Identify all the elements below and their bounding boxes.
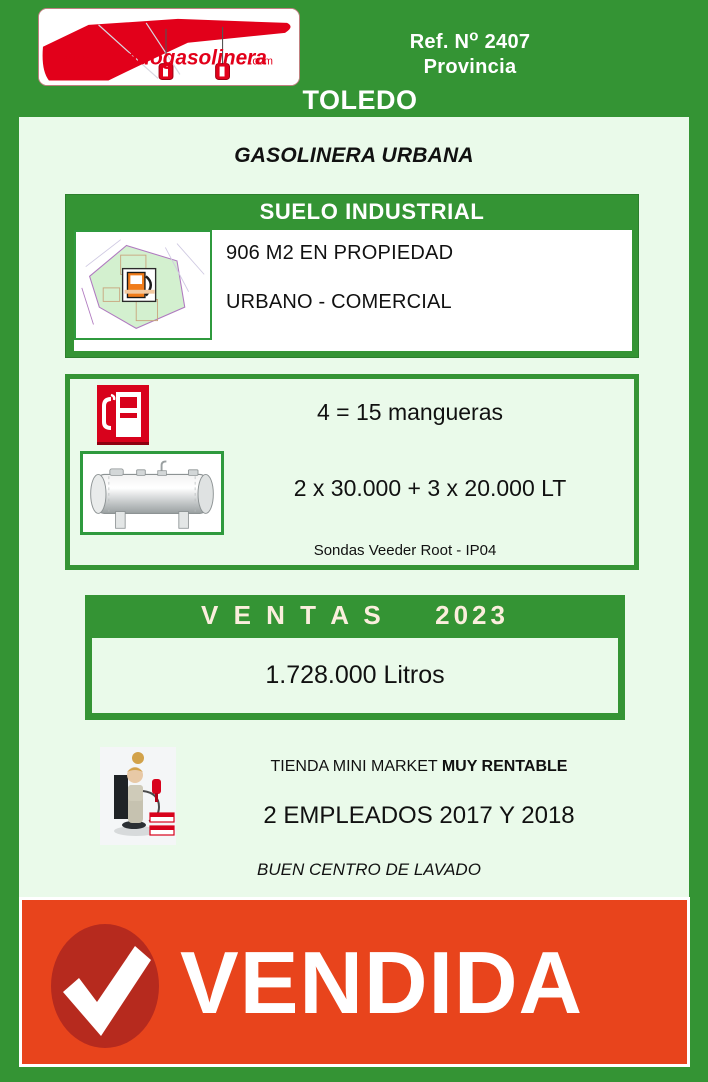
cadastral-map-icon (76, 232, 210, 338)
svg-text:.com: .com (249, 56, 273, 68)
land-card-body: 906 M2 EN PROPIEDAD URBANO - COMERCIAL (74, 230, 632, 351)
listing-body: GASOLINERA URBANA SUELO INDUSTRIAL (19, 117, 689, 1022)
listing-subtitle: GASOLINERA URBANA (19, 144, 689, 168)
staff-info: 2 EMPLEADOS 2017 Y 2018 (189, 802, 649, 830)
storage-tank-icon (83, 454, 221, 532)
land-card-title: SUELO INDUSTRIAL (66, 195, 638, 228)
station-attendant-figurine-icon (100, 747, 176, 845)
property-listing-card: www .vendogasolinera .com Ref. No 2407 P… (0, 0, 708, 1082)
reference-line: Ref. No 2407 (320, 30, 620, 55)
sales-card-title: V E N T A S 2023 (85, 595, 625, 636)
sales-year: 2023 (435, 600, 509, 630)
tank-capacity: 2 x 30.000 + 3 x 20.000 LT (230, 475, 630, 502)
svg-text:.vendogasolinera: .vendogasolinera (96, 47, 267, 70)
hoses-count: 4 = 15 mangueras (200, 399, 620, 426)
attendant-photo[interactable] (100, 747, 176, 845)
listing-header: www .vendogasolinera .com Ref. No 2407 P… (0, 0, 708, 118)
svg-text:www: www (61, 51, 90, 66)
sales-volume: 1.728.000 Litros (92, 638, 618, 713)
sold-status-banner: VENDIDA (19, 897, 690, 1067)
tank-thumbnail[interactable] (80, 451, 224, 535)
sold-label: VENDIDA (180, 928, 680, 1038)
probes-info: Sondas Veeder Root - IP04 (190, 542, 620, 559)
parcel-map-thumbnail[interactable] (74, 230, 212, 340)
land-card: SUELO INDUSTRIAL (65, 194, 639, 358)
logo-canopy-icon: www .vendogasolinera .com (39, 9, 299, 86)
province-name: TOLEDO (150, 85, 570, 116)
fuel-pump-icon (97, 385, 149, 445)
wash-center-info: BUEN CENTRO DE LAVADO (119, 860, 619, 880)
check-badge-glyph (49, 922, 161, 1050)
shop-info: TIENDA MINI MARKET MUY RENTABLE (189, 758, 649, 776)
land-details: 906 M2 EN PROPIEDAD URBANO - COMERCIAL (226, 242, 626, 340)
reference-number: Ref. No 2407 Provincia (320, 30, 620, 80)
check-mark-icon (49, 922, 161, 1050)
company-logo[interactable]: www .vendogasolinera .com (38, 8, 300, 86)
province-label: Provincia (320, 55, 620, 80)
land-zoning: URBANO - COMERCIAL (226, 291, 626, 314)
sales-title-label: V E N T A S (201, 600, 385, 630)
land-area: 906 M2 EN PROPIEDAD (226, 242, 626, 265)
sales-card: V E N T A S 2023 1.728.000 Litros (85, 595, 625, 720)
fuel-dispenser-glyph (97, 385, 149, 445)
shop-prefix: TIENDA MINI MARKET (271, 758, 442, 775)
shop-emphasis: MUY RENTABLE (442, 758, 568, 775)
equipment-card: 4 = 15 mangueras (65, 374, 639, 570)
